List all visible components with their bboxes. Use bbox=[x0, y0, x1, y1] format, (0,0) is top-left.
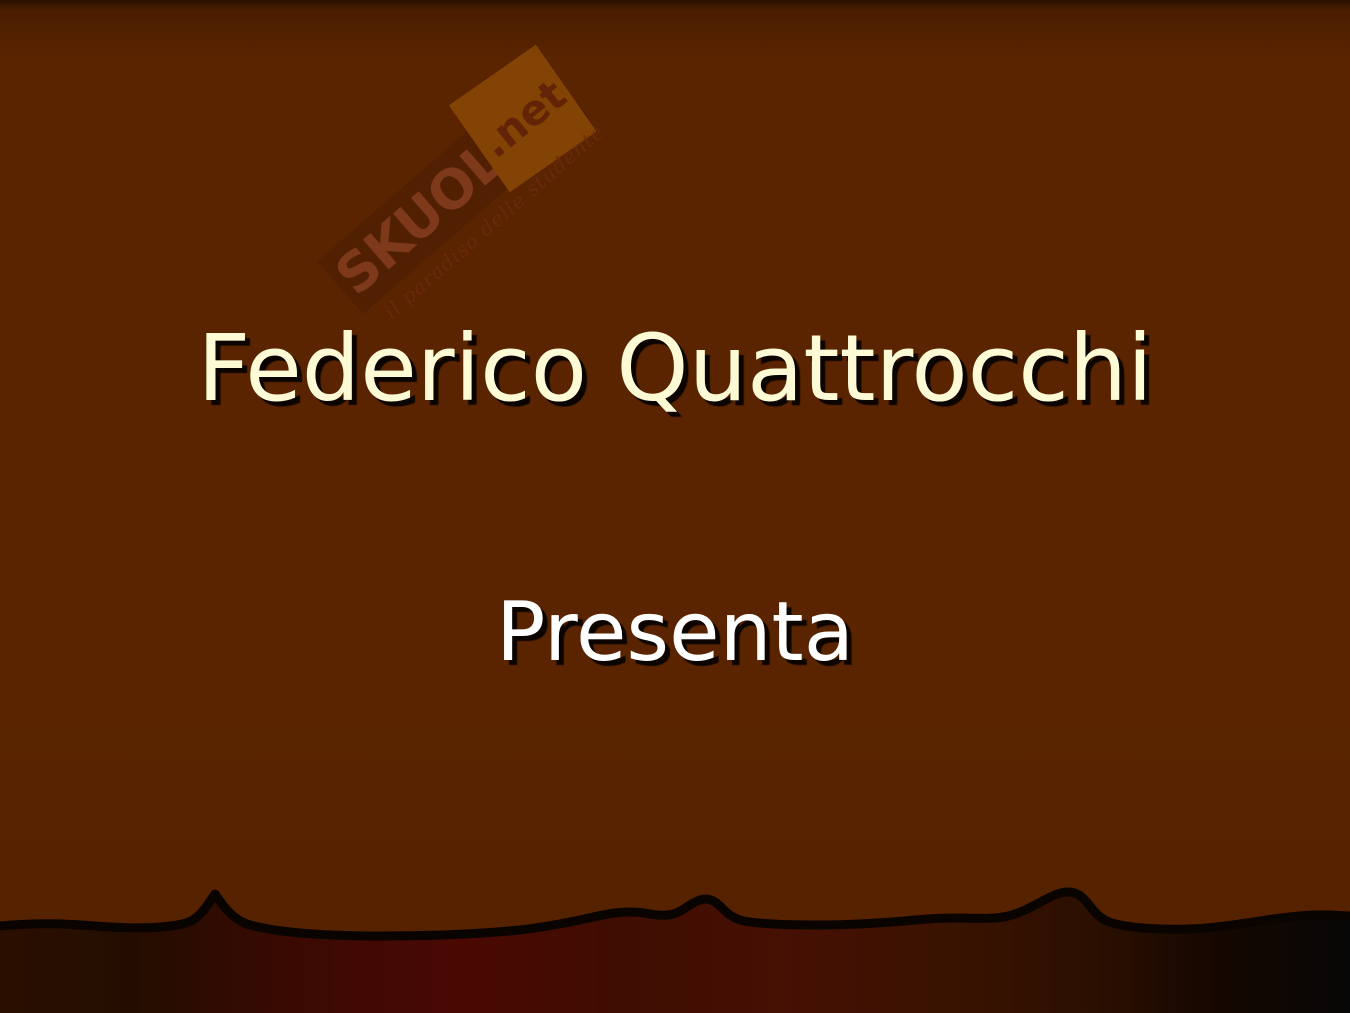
slide-subtitle: Presenta bbox=[0, 592, 1350, 674]
bottom-wave-svg bbox=[0, 878, 1350, 1013]
bottom-wave-decoration bbox=[0, 878, 1350, 1013]
slide-background-stripes bbox=[0, 0, 1350, 1013]
slide-title: Federico Quattrocchi bbox=[0, 323, 1350, 415]
presentation-slide: SKUOLA .net il paradiso delle studente F… bbox=[0, 0, 1350, 1013]
